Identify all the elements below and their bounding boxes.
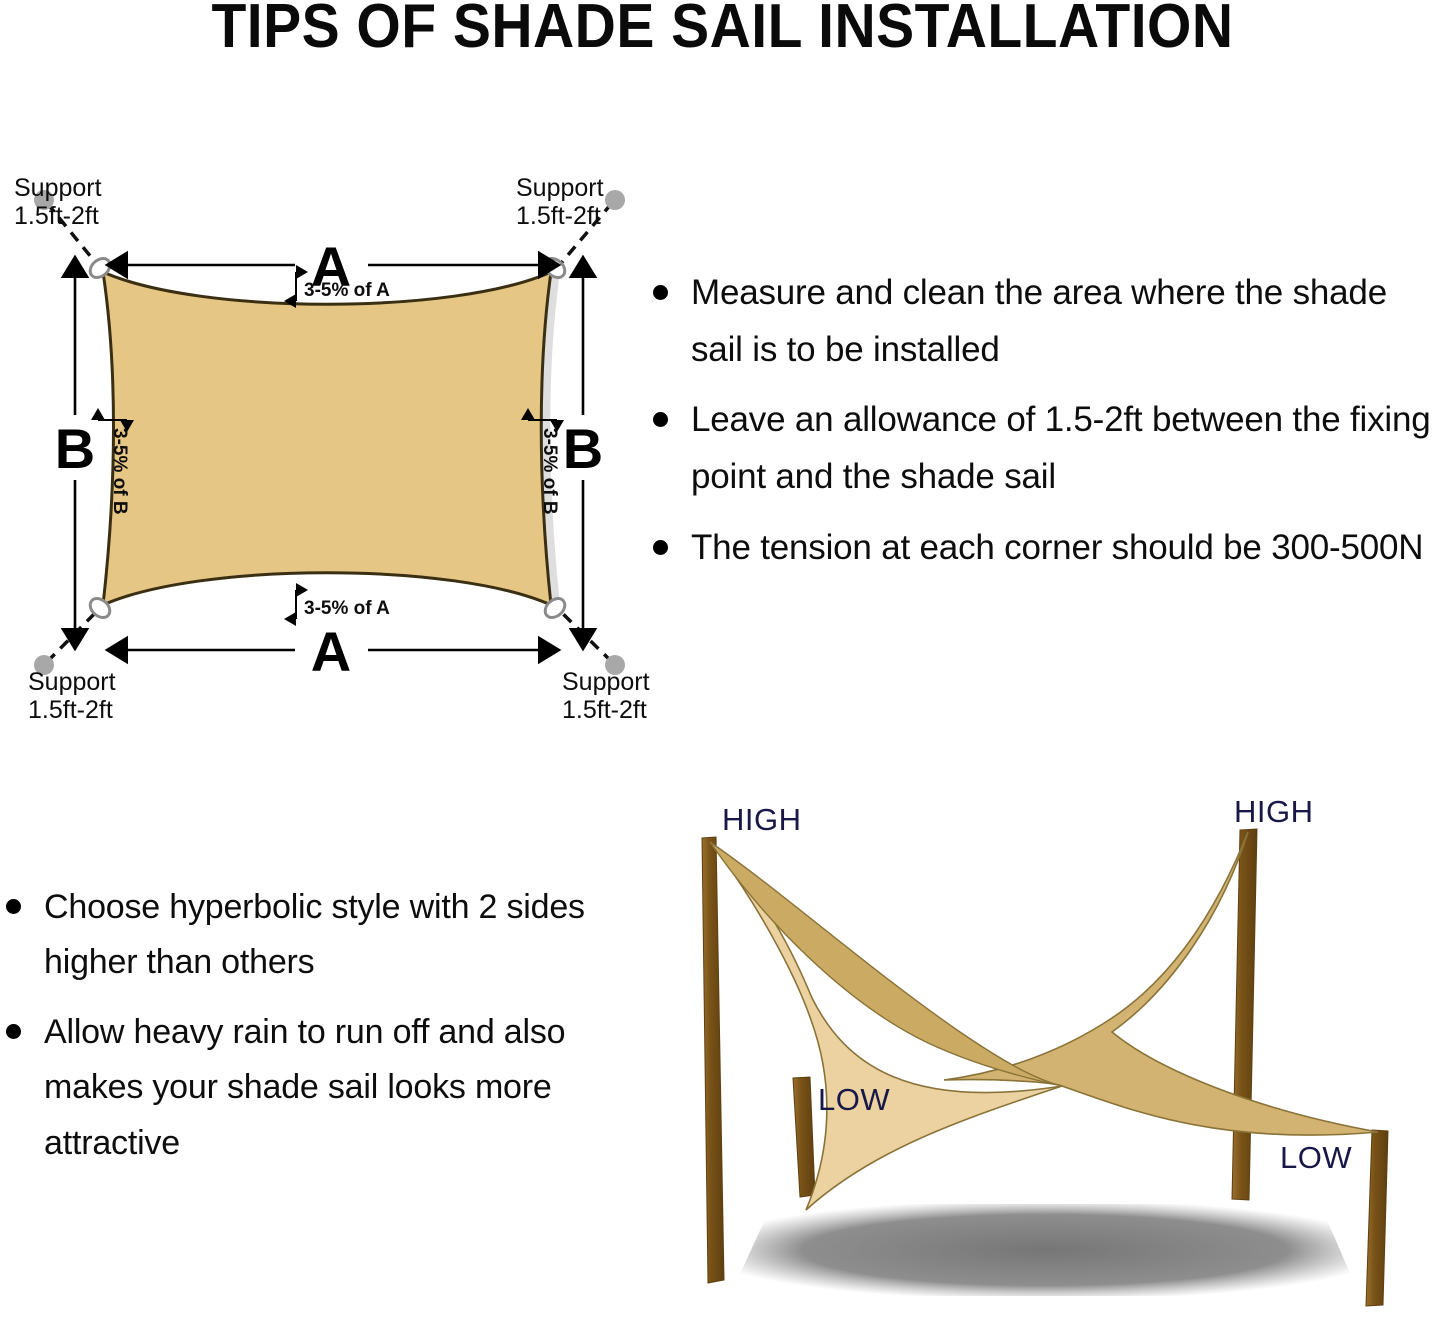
label-low-left: LOW (818, 1082, 890, 1117)
dimension-b-right-label: B (563, 417, 603, 480)
list-item: Allow heavy rain to run off and also mak… (0, 1005, 640, 1171)
bullet-dot-icon (653, 412, 668, 427)
label-high-left: HIGH (722, 802, 802, 837)
installation-tips-list: Measure and clean the area where the sha… (645, 265, 1445, 665)
support-label-line2: 1.5ft-2ft (516, 202, 601, 230)
dimension-b-left-label: B (55, 417, 95, 480)
list-item: The tension at each corner should be 300… (645, 520, 1445, 577)
bullet-dot-icon (653, 540, 668, 555)
curvature-b-left: 3-5% of B (98, 420, 130, 515)
list-item-text: Leave an allowance of 1.5-2ft between th… (691, 400, 1431, 496)
sail-canopy-right-lobe (944, 832, 1378, 1135)
support-label-bottom-left: Support 1.5ft-2ft (28, 668, 116, 724)
curvature-b-left-label: 3-5% of B (109, 428, 130, 515)
shade-sail-shape (103, 272, 551, 605)
post-high-left (702, 837, 724, 1283)
list-item-text: The tension at each corner should be 300… (691, 528, 1423, 567)
dimension-b-right: B (563, 278, 603, 628)
bullet-dot-icon (6, 899, 21, 914)
label-high-right: HIGH (1234, 794, 1314, 829)
curvature-a-bottom: 3-5% of A (296, 590, 390, 619)
support-label-line2: 1.5ft-2ft (562, 696, 647, 724)
label-low-right: LOW (1280, 1140, 1352, 1175)
sail-canopy-center-twist (710, 842, 1062, 1086)
page-title: TIPS OF SHADE SAIL INSTALLATION (58, 0, 1387, 58)
support-label-line1: Support (516, 174, 604, 202)
dimension-a-bottom-label: A (311, 620, 351, 683)
hyperbolic-style-tips-list: Choose hyperbolic style with 2 sides hig… (0, 880, 640, 1210)
dimension-b-left: B (55, 278, 95, 628)
bullet-dot-icon (653, 285, 668, 300)
support-label-top-left: Support 1.5ft-2ft (14, 174, 102, 230)
support-label-line1: Support (14, 174, 102, 202)
hyperbolic-sail-diagram: HIGH HIGH LOW LOW (660, 780, 1445, 1319)
list-item-text: Choose hyperbolic style with 2 sides hig… (44, 888, 585, 981)
support-label-top-right: Support 1.5ft-2ft (516, 174, 604, 230)
ground-shadow (730, 1204, 1360, 1296)
post-low-left (793, 1077, 815, 1197)
list-item: Leave an allowance of 1.5-2ft between th… (645, 392, 1445, 505)
list-item: Measure and clean the area where the sha… (645, 265, 1445, 378)
rectangular-sail-diagram: A 3-5% of A A 3-5% of A B 3-5% of B (0, 150, 660, 730)
list-item-text: Measure and clean the area where the sha… (691, 273, 1387, 369)
list-item-text: Allow heavy rain to run off and also mak… (44, 1013, 565, 1162)
support-label-bottom-right: Support 1.5ft-2ft (562, 668, 650, 724)
support-label-line2: 1.5ft-2ft (14, 202, 99, 230)
dimension-a-bottom: A (128, 620, 538, 683)
curvature-a-top-label: 3-5% of A (304, 280, 390, 301)
support-label-line1: Support (28, 668, 116, 696)
curvature-b-right-label: 3-5% of B (539, 428, 560, 515)
list-item: Choose hyperbolic style with 2 sides hig… (0, 880, 640, 991)
support-label-line1: Support (562, 668, 650, 696)
support-label-line2: 1.5ft-2ft (28, 696, 113, 724)
post-high-right (1232, 829, 1257, 1200)
bullet-dot-icon (6, 1024, 21, 1039)
curvature-a-bottom-label: 3-5% of A (304, 598, 390, 619)
post-low-right (1366, 1130, 1388, 1306)
